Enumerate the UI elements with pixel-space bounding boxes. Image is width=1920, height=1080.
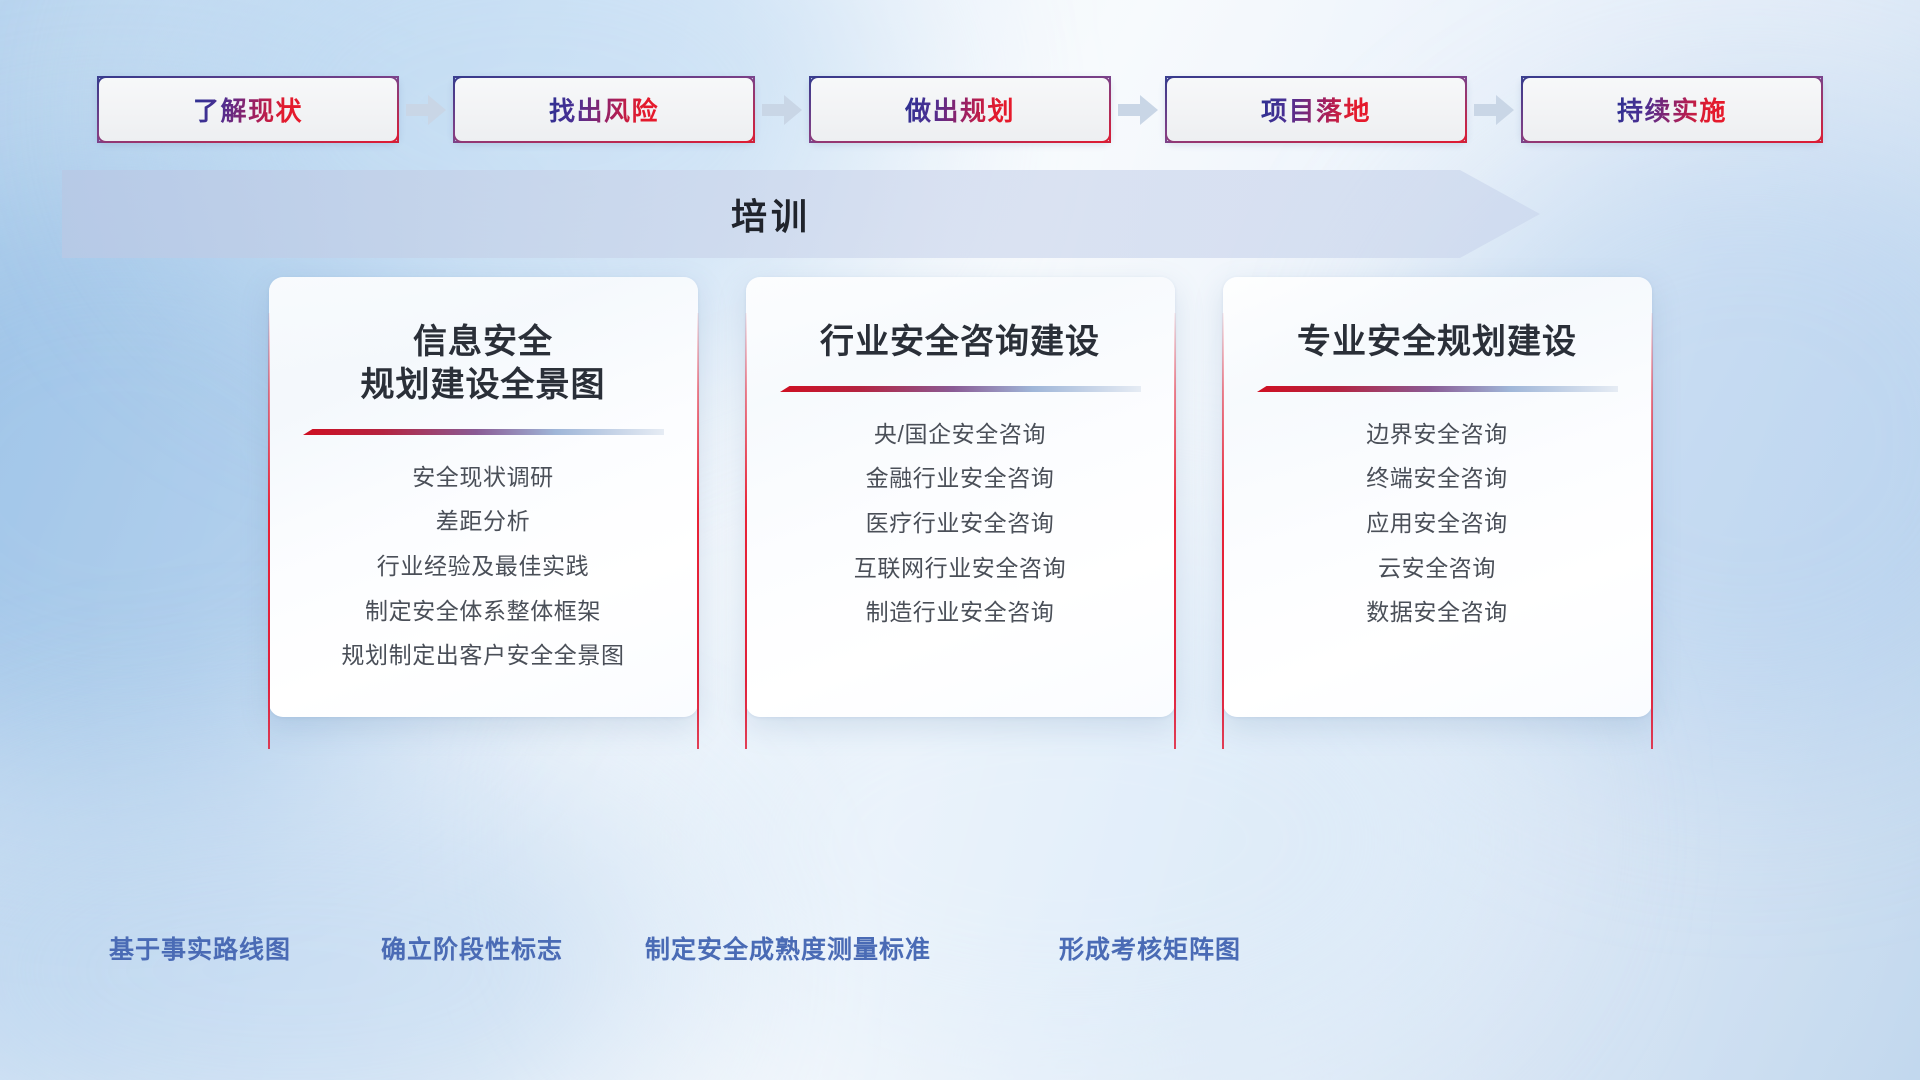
card-list-item: 数据安全咨询: [1366, 595, 1508, 631]
process-step-label: 项目落地: [1261, 91, 1371, 128]
card-list-item: 终端安全咨询: [1366, 461, 1508, 497]
process-step-label: 了解现状: [193, 91, 303, 128]
card-list-item: 医疗行业安全咨询: [866, 506, 1055, 542]
process-step-label: 做出规划: [905, 91, 1015, 128]
bottom-caption-1: 基于事实路线图: [109, 930, 291, 966]
arrow-right-icon: [399, 76, 453, 143]
card-title: 行业安全咨询建设: [772, 321, 1149, 364]
arrow-right-icon: [1111, 76, 1165, 143]
card-item-list: 边界安全咨询终端安全咨询应用安全咨询云安全咨询数据安全咨询: [1249, 417, 1626, 631]
card-title: 专业安全规划建设: [1249, 321, 1626, 364]
process-step-1[interactable]: 了解现状: [97, 76, 399, 143]
process-step-2[interactable]: 找出风险: [453, 76, 755, 143]
card-list-item: 金融行业安全咨询: [866, 461, 1055, 497]
process-step-label: 持续实施: [1617, 91, 1727, 128]
card-item-list: 安全现状调研差距分析行业经验及最佳实践制定安全体系整体框架规划制定出客户安全全景…: [295, 460, 672, 674]
gradient-divider-icon: [780, 386, 1141, 395]
card-list-item: 制造行业安全咨询: [866, 595, 1055, 631]
bottom-caption-4: 形成考核矩阵图: [1059, 930, 1241, 966]
process-step-4[interactable]: 项目落地: [1165, 76, 1467, 143]
card-list-item: 规划制定出客户安全全景图: [341, 638, 624, 674]
service-card-3[interactable]: 专业安全规划建设边界安全咨询终端安全咨询应用安全咨询云安全咨询数据安全咨询: [1223, 277, 1652, 717]
card-list-item: 云安全咨询: [1378, 551, 1496, 587]
card-list-item: 制定安全体系整体框架: [365, 594, 601, 630]
gradient-divider-icon: [1257, 386, 1618, 395]
service-card-2[interactable]: 行业安全咨询建设央/国企安全咨询金融行业安全咨询医疗行业安全咨询互联网行业安全咨…: [746, 277, 1175, 717]
bottom-caption-3: 制定安全成熟度测量标准: [645, 930, 931, 966]
training-banner: 培训: [62, 170, 1540, 258]
card-list-item: 边界安全咨询: [1366, 417, 1508, 453]
card-item-list: 央/国企安全咨询金融行业安全咨询医疗行业安全咨询互联网行业安全咨询制造行业安全咨…: [772, 417, 1149, 631]
service-card-1[interactable]: 信息安全 规划建设全景图安全现状调研差距分析行业经验及最佳实践制定安全体系整体框…: [269, 277, 698, 717]
process-step-row: 了解现状找出风险做出规划项目落地持续实施: [0, 76, 1920, 143]
gradient-divider-icon: [303, 429, 664, 438]
bottom-caption-2: 确立阶段性标志: [381, 930, 563, 966]
background-blob: [0, 760, 700, 1080]
card-list-item: 差距分析: [436, 504, 530, 540]
arrow-right-icon: [755, 76, 809, 143]
card-row: 信息安全 规划建设全景图安全现状调研差距分析行业经验及最佳实践制定安全体系整体框…: [0, 277, 1920, 717]
card-list-item: 央/国企安全咨询: [874, 417, 1046, 453]
card-list-item: 互联网行业安全咨询: [854, 551, 1066, 587]
card-list-item: 应用安全咨询: [1366, 506, 1508, 542]
caption-row: 基于事实路线图确立阶段性标志制定安全成熟度测量标准形成考核矩阵图: [0, 930, 1920, 970]
card-title: 信息安全 规划建设全景图: [295, 321, 672, 407]
process-step-3[interactable]: 做出规划: [809, 76, 1111, 143]
process-step-5[interactable]: 持续实施: [1521, 76, 1823, 143]
infographic-stage: 了解现状找出风险做出规划项目落地持续实施 培训 信息安全 规划建设全景图安全现状…: [0, 0, 1920, 1080]
card-list-item: 行业经验及最佳实践: [377, 549, 589, 585]
process-step-label: 找出风险: [549, 91, 659, 128]
arrow-right-icon: [1467, 76, 1521, 143]
card-list-item: 安全现状调研: [412, 460, 554, 496]
banner-title: 培训: [62, 170, 1480, 258]
